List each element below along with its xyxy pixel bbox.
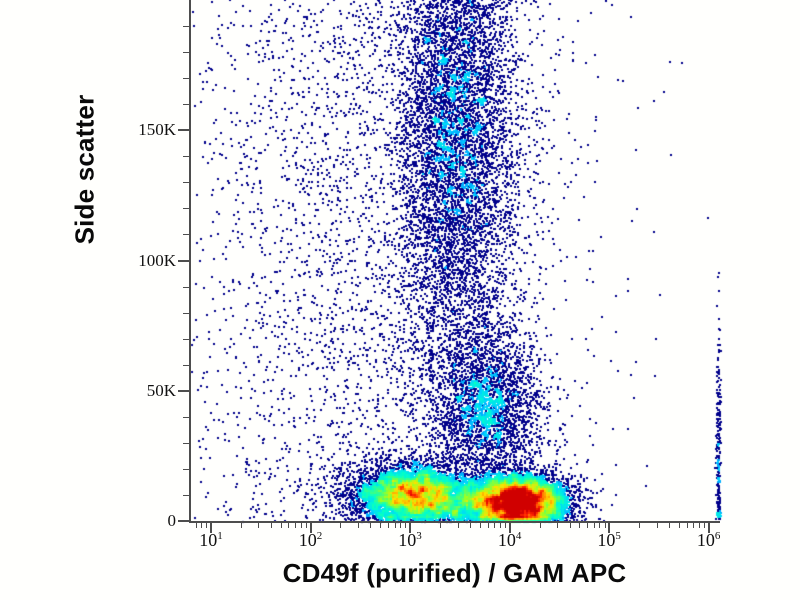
y-tick-minor bbox=[183, 156, 189, 157]
x-tick-label: 103 bbox=[398, 530, 422, 551]
x-tick-minor bbox=[458, 523, 459, 528]
x-tick-minor bbox=[241, 523, 242, 528]
y-tick-minor bbox=[183, 26, 189, 27]
y-tick-minor bbox=[183, 417, 189, 418]
x-tick-minor bbox=[505, 523, 506, 528]
y-tick-minor bbox=[183, 208, 189, 209]
y-tick-minor bbox=[183, 339, 189, 340]
x-tick-minor bbox=[258, 523, 259, 528]
x-tick-minor bbox=[405, 523, 406, 528]
x-tick-minor bbox=[693, 523, 694, 528]
x-tick-minor bbox=[704, 523, 705, 528]
y-tick-major bbox=[178, 520, 189, 522]
x-tick-minor bbox=[669, 523, 670, 528]
x-tick-minor bbox=[557, 523, 558, 528]
y-tick-minor bbox=[183, 78, 189, 79]
y-tick-minor bbox=[183, 469, 189, 470]
y-tick-minor bbox=[183, 234, 189, 235]
x-tick-minor bbox=[295, 523, 296, 528]
x-tick-minor bbox=[281, 523, 282, 528]
x-tick-minor bbox=[306, 523, 307, 528]
y-tick-major bbox=[178, 390, 189, 392]
x-tick-minor bbox=[440, 523, 441, 528]
x-tick-minor bbox=[594, 523, 595, 528]
x-tick-minor bbox=[400, 523, 401, 528]
x-tick-label: 102 bbox=[299, 530, 323, 551]
x-tick-label: 104 bbox=[498, 530, 522, 551]
x-tick-label: 105 bbox=[597, 530, 621, 551]
x-tick-minor bbox=[358, 523, 359, 528]
x-tick-minor bbox=[599, 523, 600, 528]
y-tick-major bbox=[178, 260, 189, 262]
y-tick-minor bbox=[183, 313, 189, 314]
y-tick-minor bbox=[183, 52, 189, 53]
x-tick-minor bbox=[488, 523, 489, 528]
x-tick-minor bbox=[679, 523, 680, 528]
x-tick-minor bbox=[480, 523, 481, 528]
x-tick-minor bbox=[370, 523, 371, 528]
x-tick-label: 106 bbox=[697, 530, 721, 551]
y-axis-title: Side scatter bbox=[70, 45, 101, 295]
x-tick-minor bbox=[380, 523, 381, 528]
y-tick-major bbox=[178, 129, 189, 131]
x-tick-minor bbox=[540, 523, 541, 528]
x-tick-minor bbox=[301, 523, 302, 528]
x-axis-title: CD49f (purified) / GAM APC bbox=[189, 558, 720, 589]
x-tick-minor bbox=[206, 523, 207, 528]
x-tick-minor bbox=[395, 523, 396, 528]
x-tick-minor bbox=[699, 523, 700, 528]
x-axis-line bbox=[189, 521, 720, 523]
x-tick-minor bbox=[288, 523, 289, 528]
x-tick-minor bbox=[494, 523, 495, 528]
y-tick-minor bbox=[183, 287, 189, 288]
x-tick-minor bbox=[657, 523, 658, 528]
y-tick-label: 50K bbox=[147, 381, 176, 401]
y-tick-label: 0 bbox=[168, 511, 177, 531]
y-tick-minor bbox=[183, 182, 189, 183]
x-tick-minor bbox=[570, 523, 571, 528]
x-tick-label: 101 bbox=[199, 530, 223, 551]
y-tick-minor bbox=[183, 495, 189, 496]
x-tick-minor bbox=[500, 523, 501, 528]
x-tick-minor bbox=[605, 523, 606, 528]
scatter-plot-canvas bbox=[0, 0, 800, 600]
x-tick-minor bbox=[470, 523, 471, 528]
y-tick-minor bbox=[183, 443, 189, 444]
flow-cytometry-figure: 050K100K150K 101102103104105106 CD49f (p… bbox=[0, 0, 800, 600]
x-tick-minor bbox=[687, 523, 688, 528]
x-tick-minor bbox=[201, 523, 202, 528]
x-tick-minor bbox=[639, 523, 640, 528]
y-tick-label: 150K bbox=[138, 120, 176, 140]
y-axis-line bbox=[189, 0, 191, 523]
x-tick-minor bbox=[388, 523, 389, 528]
y-tick-label: 100K bbox=[138, 251, 176, 271]
x-tick-minor bbox=[579, 523, 580, 528]
y-tick-minor bbox=[183, 365, 189, 366]
y-tick-minor bbox=[183, 104, 189, 105]
x-tick-minor bbox=[340, 523, 341, 528]
x-tick-minor bbox=[587, 523, 588, 528]
x-tick-minor bbox=[271, 523, 272, 528]
x-tick-minor bbox=[196, 523, 197, 528]
